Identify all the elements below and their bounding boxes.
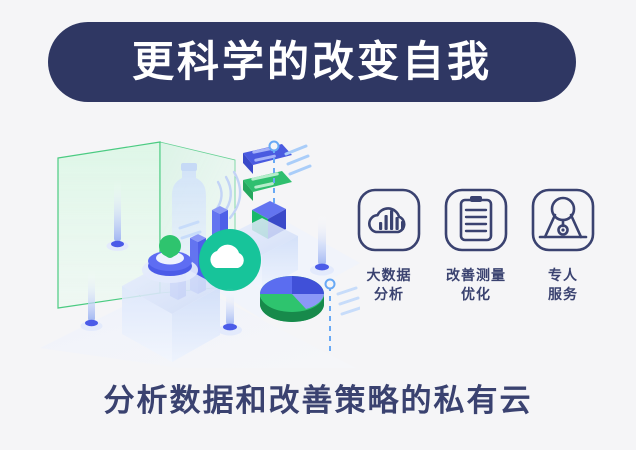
info-card-green xyxy=(243,171,292,201)
tagline: 分析数据和改善策略的私有云 xyxy=(0,384,636,418)
feature-item-measurement[interactable]: 改善测量 优化 xyxy=(439,188,513,328)
poster-canvas: 更科学的改变自我 xyxy=(0,0,636,450)
cloud-chart-icon xyxy=(357,188,421,252)
cloud-badge xyxy=(199,229,261,291)
feature-label-line1: 大数据 xyxy=(367,266,412,285)
pie-chart-3d xyxy=(260,276,324,322)
feature-label-line2: 服务 xyxy=(548,285,578,304)
feature-label-line1: 改善测量 xyxy=(446,266,506,285)
info-card-blue xyxy=(243,144,292,174)
feature-label-big-data: 大数据 分析 xyxy=(367,266,412,304)
page-title: 更科学的改变自我 xyxy=(132,41,492,83)
feature-label-line2: 优化 xyxy=(446,285,506,304)
feature-list: 大数据 分析 改善测量 优化 xyxy=(352,188,600,328)
service-agent-icon xyxy=(531,188,595,252)
feature-item-service[interactable]: 专人 服务 xyxy=(526,188,600,328)
illustration xyxy=(30,118,360,368)
clipboard-icon xyxy=(444,188,508,252)
feature-label-line1: 专人 xyxy=(548,266,578,285)
feature-label-service: 专人 服务 xyxy=(548,266,578,304)
header-banner: 更科学的改变自我 xyxy=(48,22,576,102)
feature-label-line2: 分析 xyxy=(367,285,412,304)
feature-item-big-data[interactable]: 大数据 分析 xyxy=(352,188,426,328)
feature-label-measurement: 改善测量 优化 xyxy=(446,266,506,304)
